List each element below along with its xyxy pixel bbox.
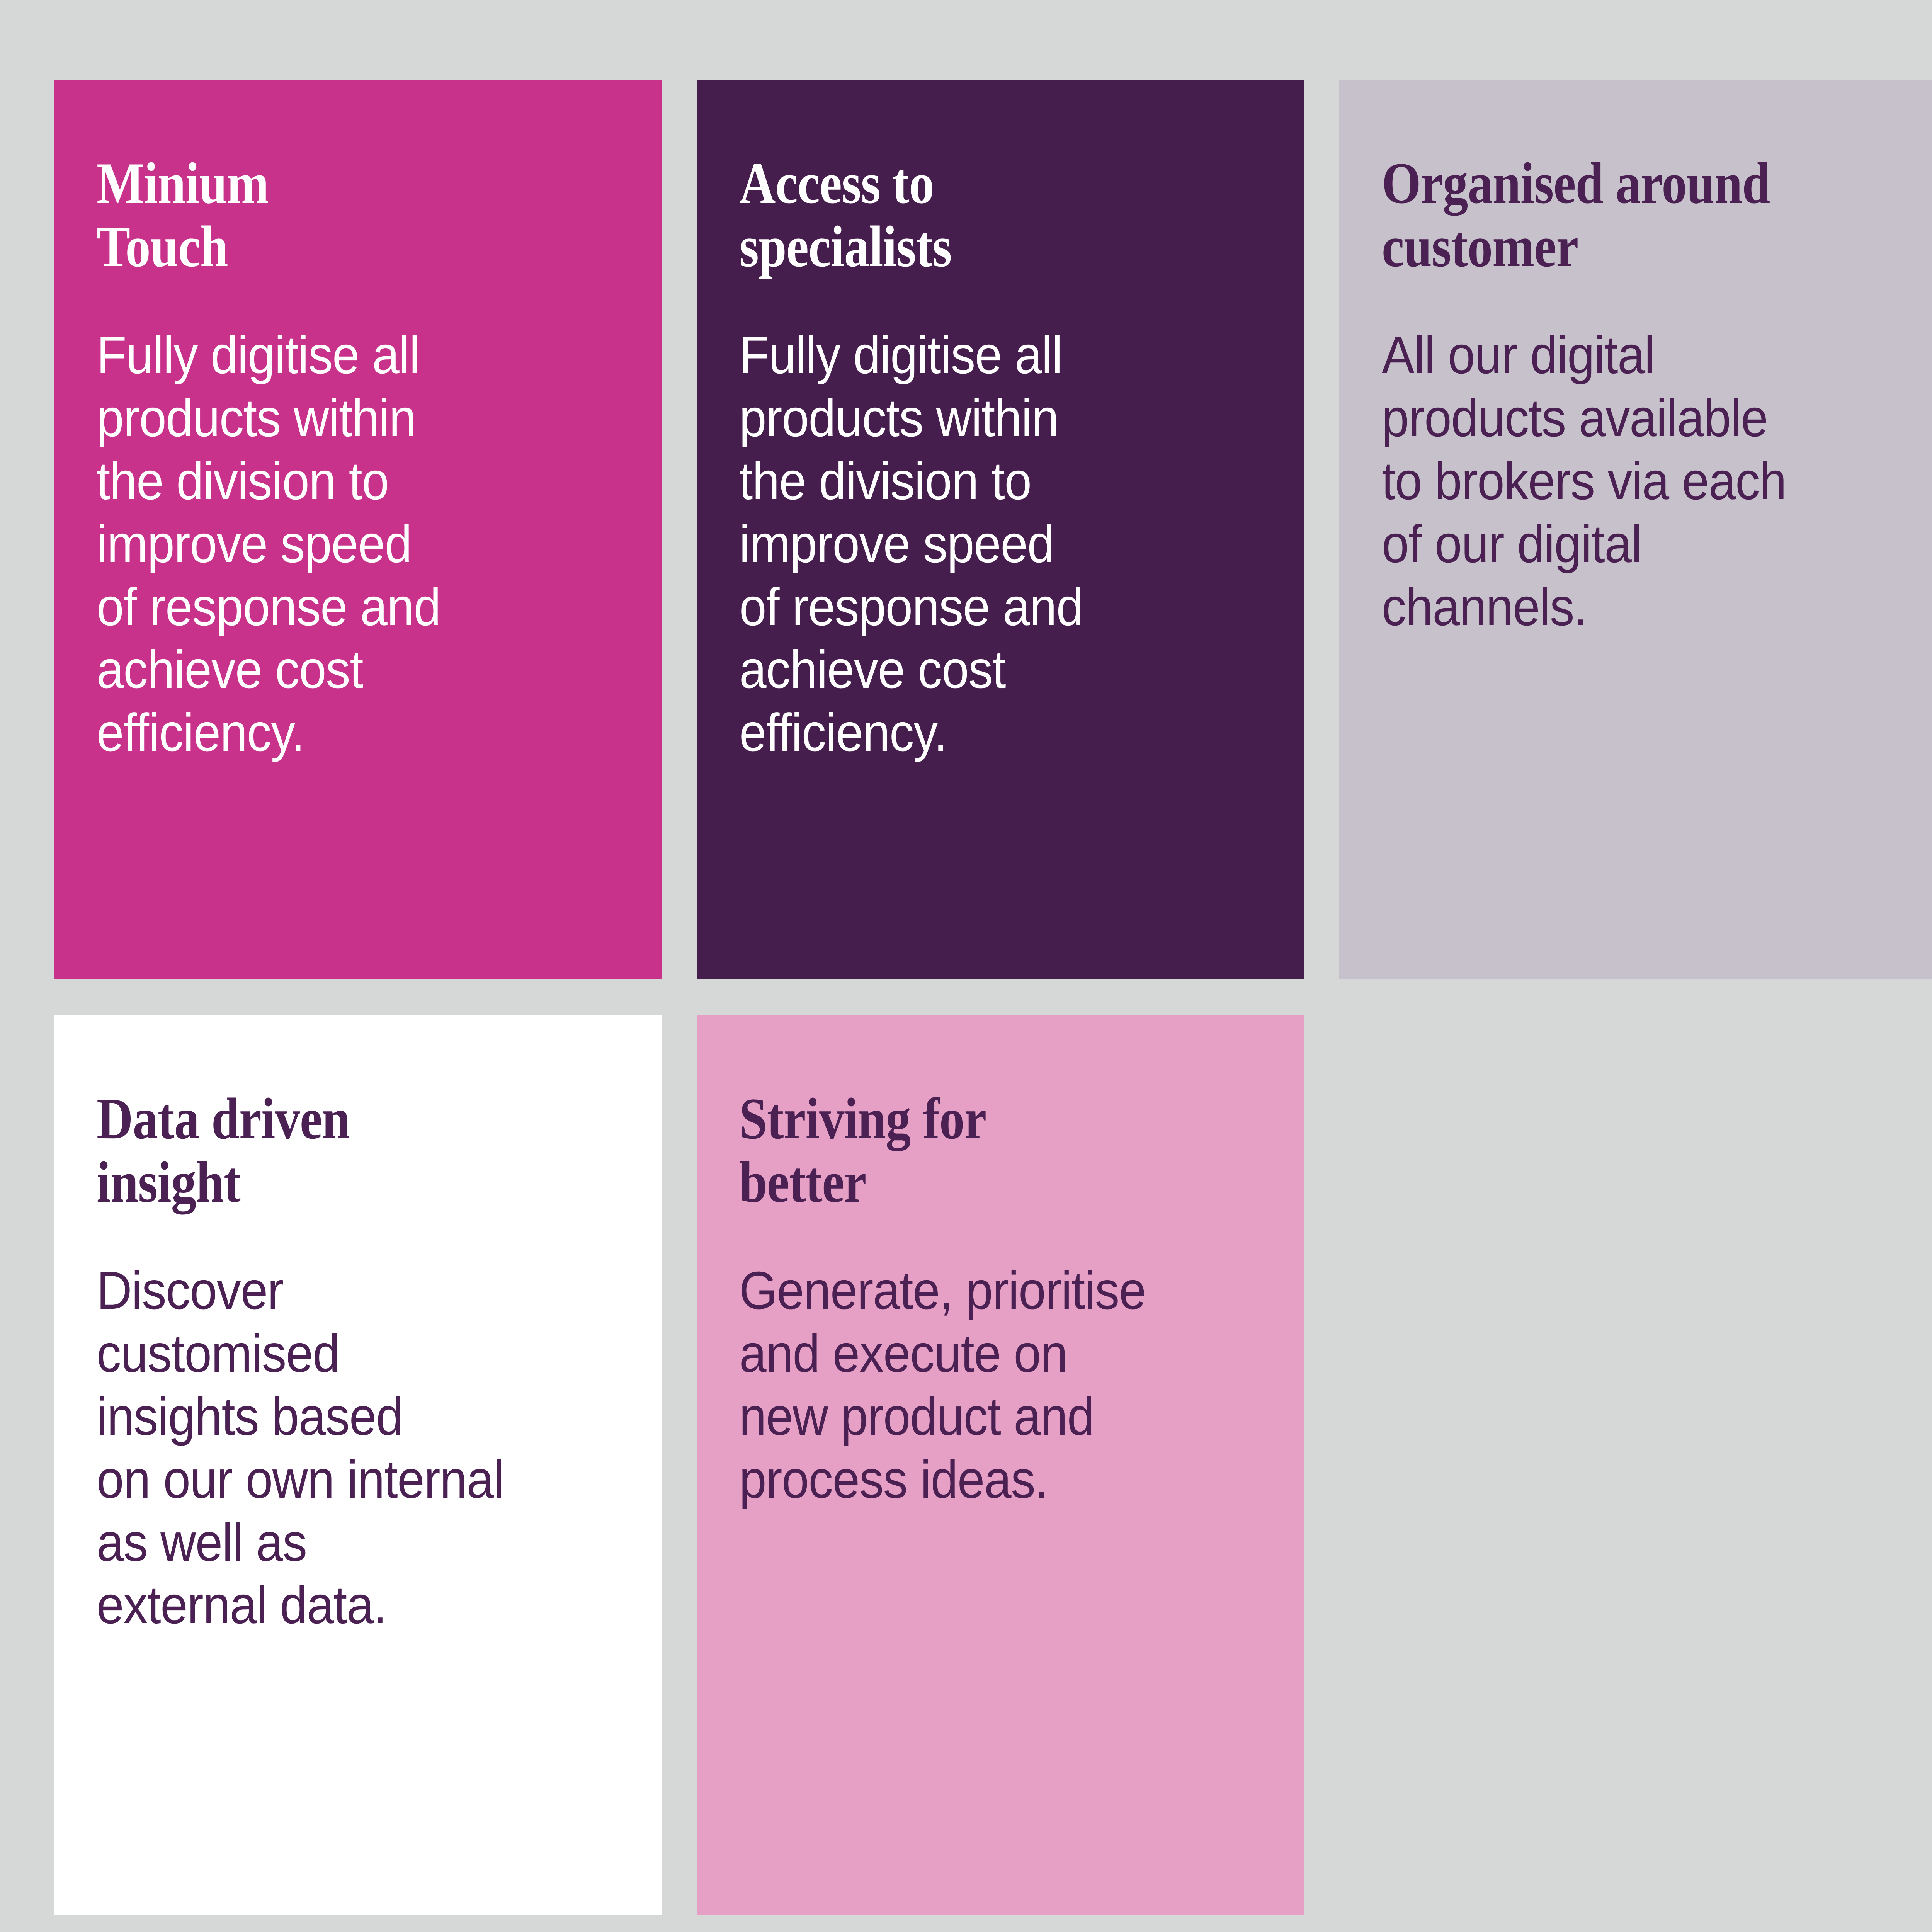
card-striving-better-body: Generate, prioritise and execute on new … — [739, 1259, 1220, 1511]
card-striving-better-heading: Striving for better — [739, 1087, 1189, 1214]
card-minimum-touch-heading: Minium Touch — [97, 151, 546, 278]
card-organised-customer-heading: Organised around customer — [1382, 151, 1831, 278]
card-data-driven-insight-body: Discover customised insights based on ou… — [97, 1259, 578, 1637]
card-striving-better[interactable]: Striving for better Generate, prioritise… — [697, 1015, 1304, 1915]
card-data-driven-insight-heading: Data driven insight — [97, 1087, 546, 1214]
card-minimum-touch-body: Fully digitise all products within the d… — [97, 324, 578, 764]
card-access-specialists-heading: Access to specialists — [739, 151, 1189, 278]
card-data-driven-insight[interactable]: Data driven insight Discover customised … — [54, 1015, 662, 1915]
card-organised-customer-body: All our digital products available to br… — [1382, 324, 1862, 638]
card-organised-customer[interactable]: Organised around customer All our digita… — [1339, 80, 1932, 979]
card-minimum-touch[interactable]: Minium Touch Fully digitise all products… — [54, 80, 662, 979]
card-access-specialists[interactable]: Access to specialists Fully digitise all… — [697, 80, 1304, 979]
card-access-specialists-body: Fully digitise all products within the d… — [739, 324, 1220, 764]
card-grid: Minium Touch Fully digitise all products… — [0, 0, 1932, 1932]
